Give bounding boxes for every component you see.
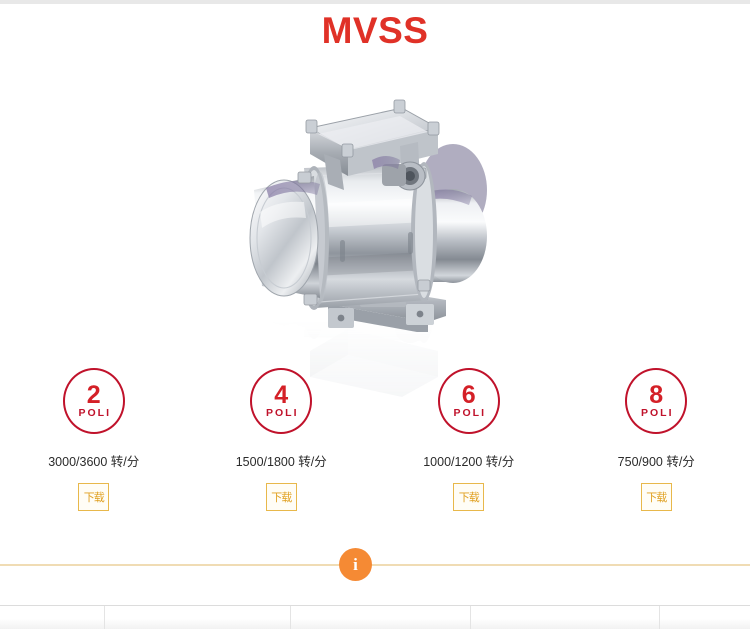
pole-rpm-label: 1500/1800 转/分 [236, 451, 327, 470]
table-column-3 [291, 606, 471, 629]
page-title: MVSS [0, 8, 750, 54]
pole-number: 4 [274, 383, 288, 407]
top-strip [0, 0, 750, 4]
pole-rpm-label: 1000/1200 转/分 [423, 451, 514, 470]
pole-badge-4: 4 POLI [250, 368, 312, 434]
section-divider: i [0, 548, 750, 582]
info-icon[interactable]: i [339, 548, 372, 581]
download-button-8[interactable]: 下载 [641, 483, 672, 511]
download-button-2[interactable]: 下载 [78, 483, 109, 511]
download-button-6[interactable]: 下载 [453, 483, 484, 511]
pole-number: 8 [649, 383, 663, 407]
divider-line [0, 564, 750, 566]
pole-option-2: 2 POLI 3000/3600 转/分 下载 [0, 368, 188, 511]
pole-rpm-label: 750/900 转/分 [618, 451, 695, 470]
table-column-4 [471, 606, 660, 629]
specs-table-header [0, 605, 750, 629]
table-column-2 [105, 606, 291, 629]
pole-number: 2 [87, 383, 101, 407]
pole-option-8: 8 POLI 750/900 转/分 下载 [563, 368, 750, 511]
pole-word: POLI [264, 408, 299, 419]
table-column-5 [660, 606, 750, 629]
pole-badge-8: 8 POLI [625, 368, 687, 434]
pole-option-6: 6 POLI 1000/1200 转/分 下载 [375, 368, 563, 511]
pole-word: POLI [76, 408, 111, 419]
product-image [232, 72, 518, 332]
pole-number: 6 [462, 383, 476, 407]
pole-option-4: 4 POLI 1500/1800 转/分 下载 [188, 368, 376, 511]
pole-word: POLI [639, 408, 674, 419]
pole-word: POLI [451, 408, 486, 419]
poles-options-row: 2 POLI 3000/3600 转/分 下载 4 POLI 1500/1800… [0, 368, 750, 511]
pole-badge-6: 6 POLI [438, 368, 500, 434]
product-detail-page: MVSS [0, 0, 750, 628]
pole-badge-2: 2 POLI [63, 368, 125, 434]
download-button-4[interactable]: 下载 [266, 483, 297, 511]
pole-rpm-label: 3000/3600 转/分 [48, 451, 139, 470]
table-column-1 [0, 606, 105, 629]
